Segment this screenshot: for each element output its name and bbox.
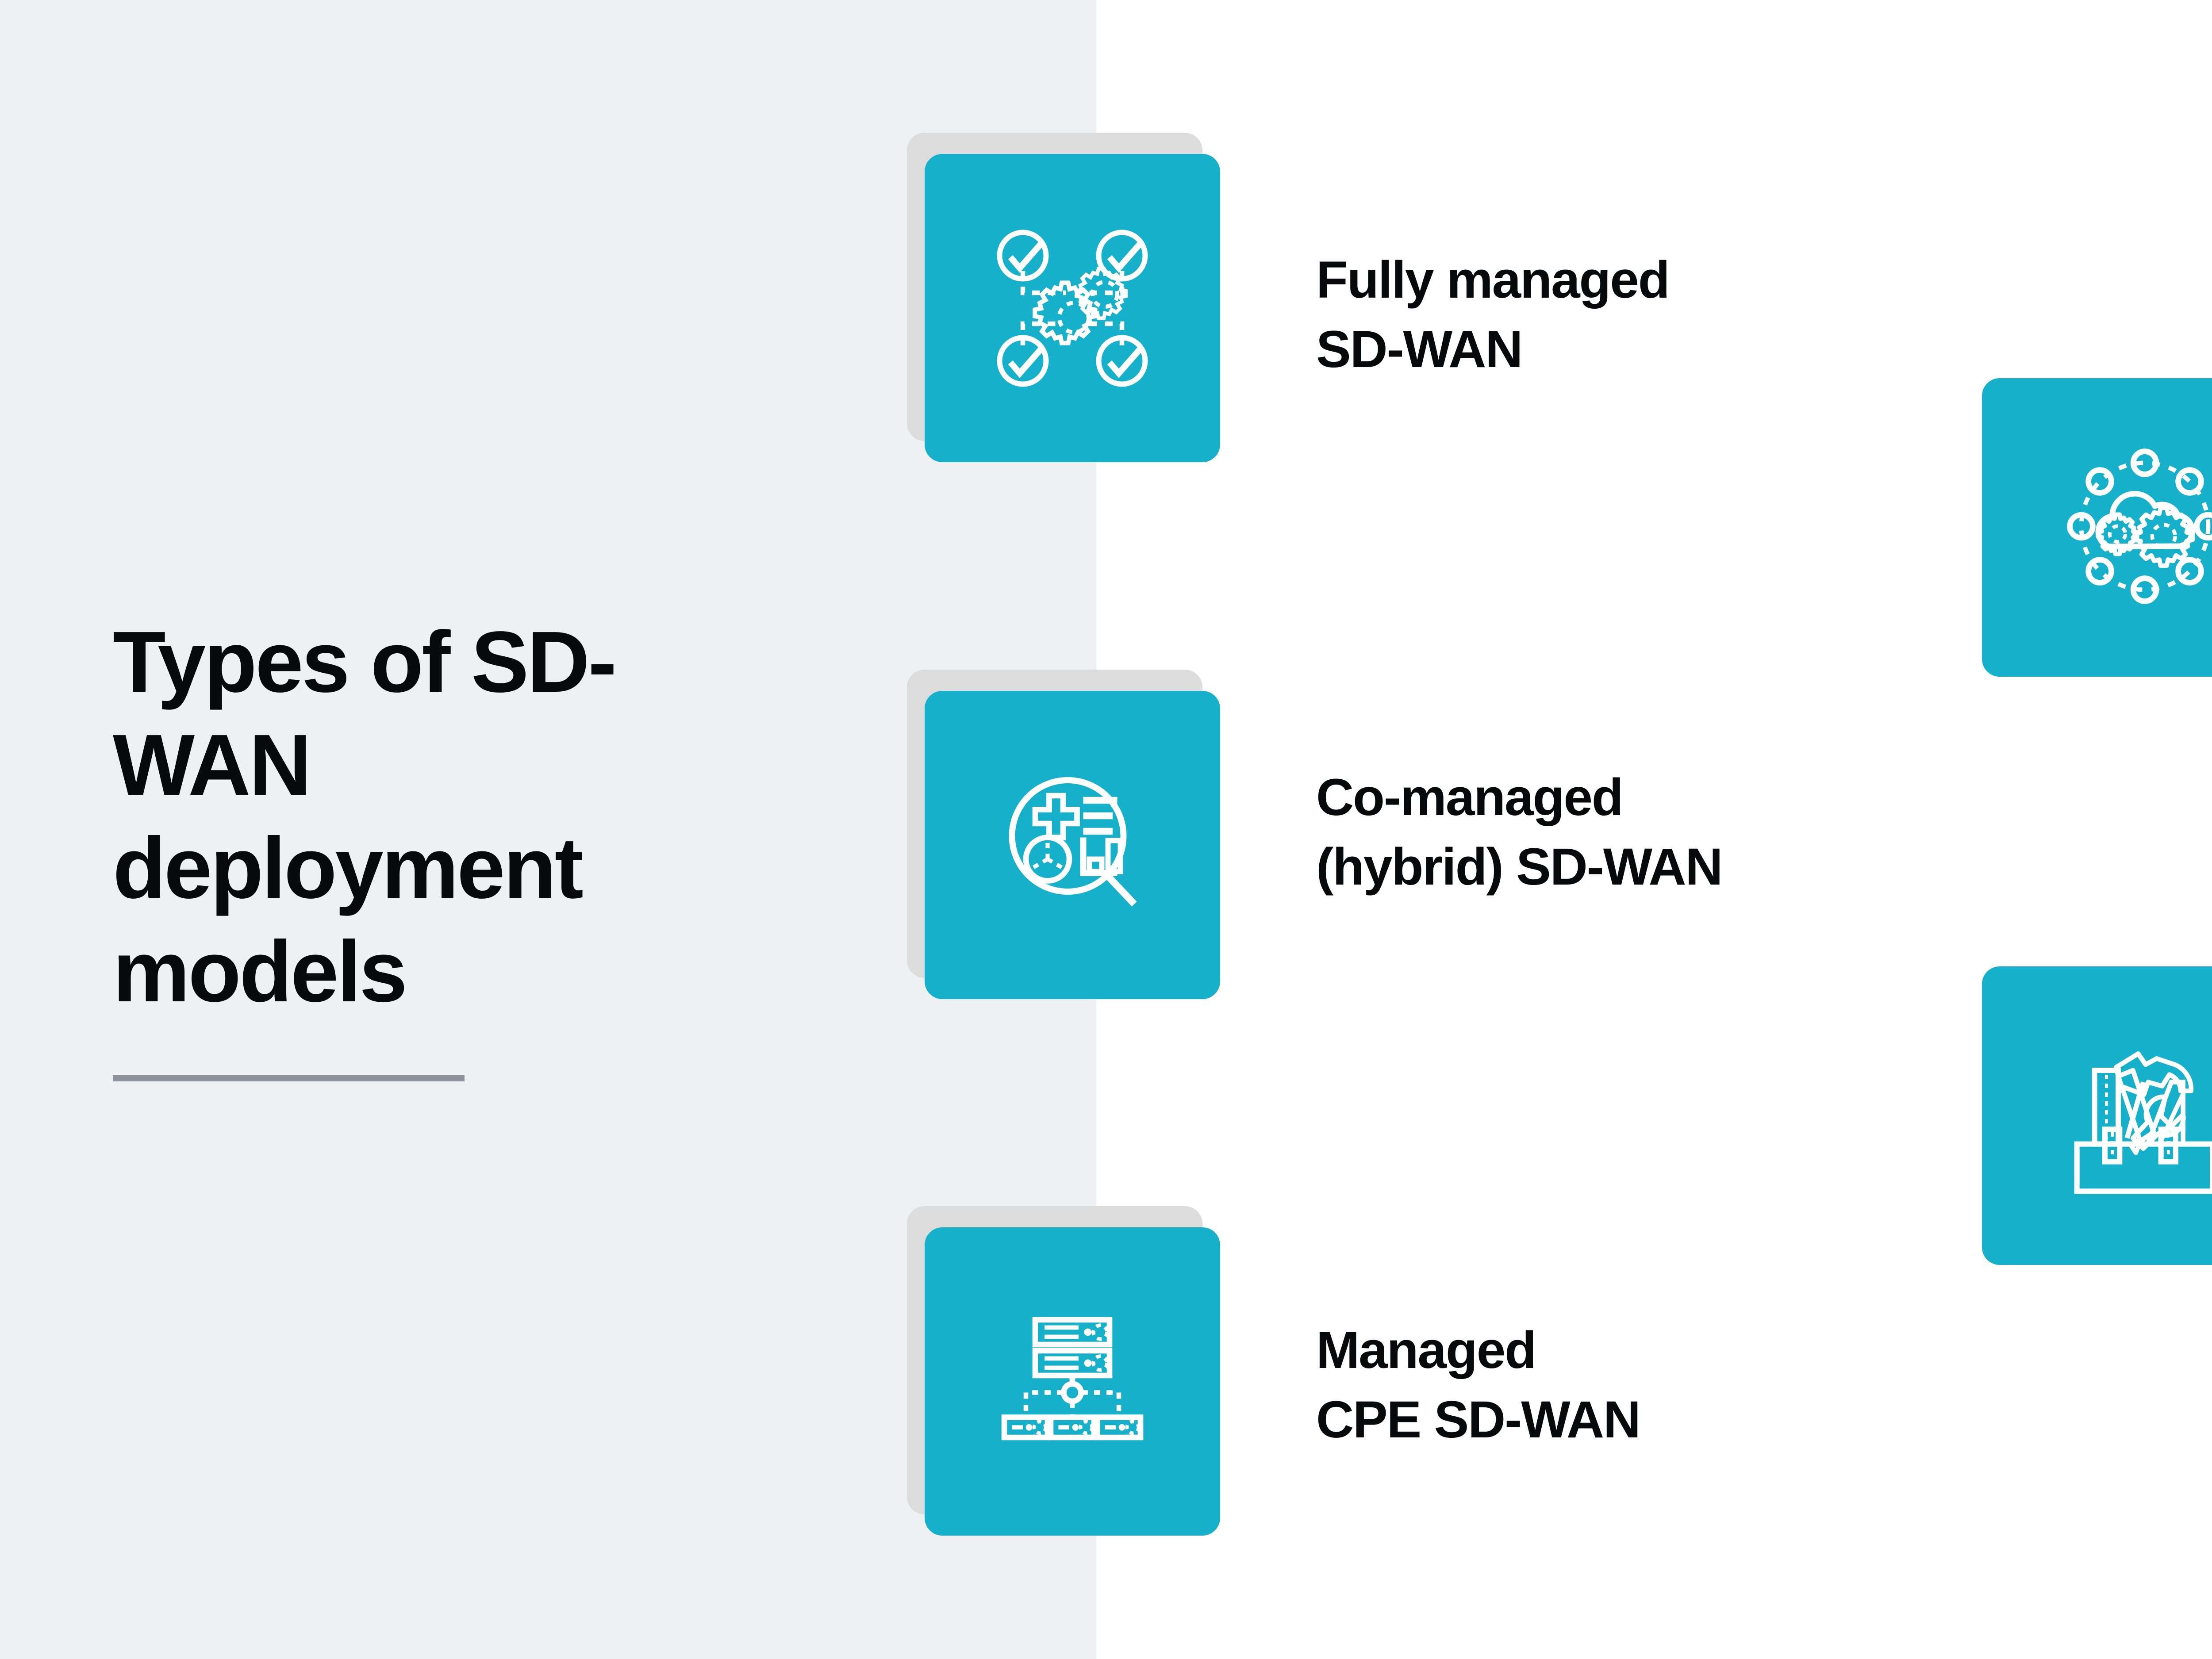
infographic-canvas: Types of SD-WAN deployment models	[0, 0, 2212, 1659]
card-diy-sd-wan[interactable]	[1982, 966, 2212, 1265]
icon-tile	[925, 691, 1220, 999]
label-fully-managed-sd-wan: Fully managed SD-WAN	[1316, 245, 1669, 384]
card-managed-cpe-sd-wan[interactable]	[925, 1227, 1220, 1536]
icon-tile	[1982, 966, 2212, 1265]
icon-tile	[925, 154, 1220, 462]
icon-tile	[1982, 378, 2212, 677]
title-divider-rule	[113, 1075, 465, 1081]
toolbox-icon	[2056, 1026, 2212, 1205]
icon-tile	[925, 1227, 1220, 1536]
checks-gears-icon	[979, 215, 1165, 401]
label-managed-cpe-sd-wan: Managed CPE SD-WAN	[1316, 1316, 1640, 1455]
magnifier-dashboard-icon	[979, 752, 1165, 938]
title-block: Types of SD-WAN deployment models	[113, 610, 776, 1081]
card-sd-wanaas[interactable]	[1982, 378, 2212, 677]
label-co-managed-hybrid-sd-wan: Co-managed (hybrid) SD-WAN	[1316, 763, 1722, 902]
card-fully-managed-sd-wan[interactable]	[925, 154, 1220, 462]
server-cpe-network-icon	[979, 1289, 1165, 1475]
cloud-gears-nodes-icon	[2052, 433, 2212, 621]
card-co-managed-hybrid-sd-wan[interactable]	[925, 691, 1220, 999]
page-title: Types of SD-WAN deployment models	[113, 610, 776, 1023]
